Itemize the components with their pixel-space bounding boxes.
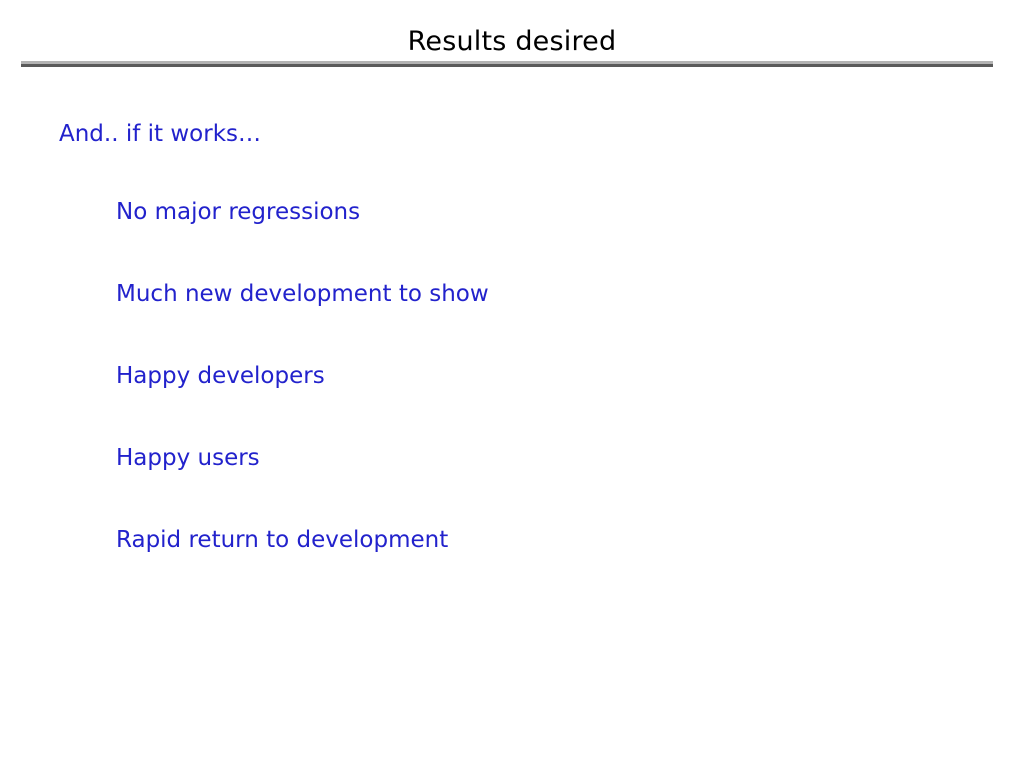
list-item: Much new development to show xyxy=(116,279,489,309)
bullet-list: No major regressions Much new developmen… xyxy=(116,197,489,555)
list-item: Rapid return to development xyxy=(116,525,489,555)
list-item: Happy users xyxy=(116,443,489,473)
list-item: No major regressions xyxy=(116,197,489,227)
lead-line: And.. if it works… xyxy=(59,119,261,149)
slide-body: And.. if it works… No major regressions … xyxy=(0,0,1024,768)
list-item: Happy developers xyxy=(116,361,489,391)
slide: Results desired And.. if it works… No ma… xyxy=(0,0,1024,768)
